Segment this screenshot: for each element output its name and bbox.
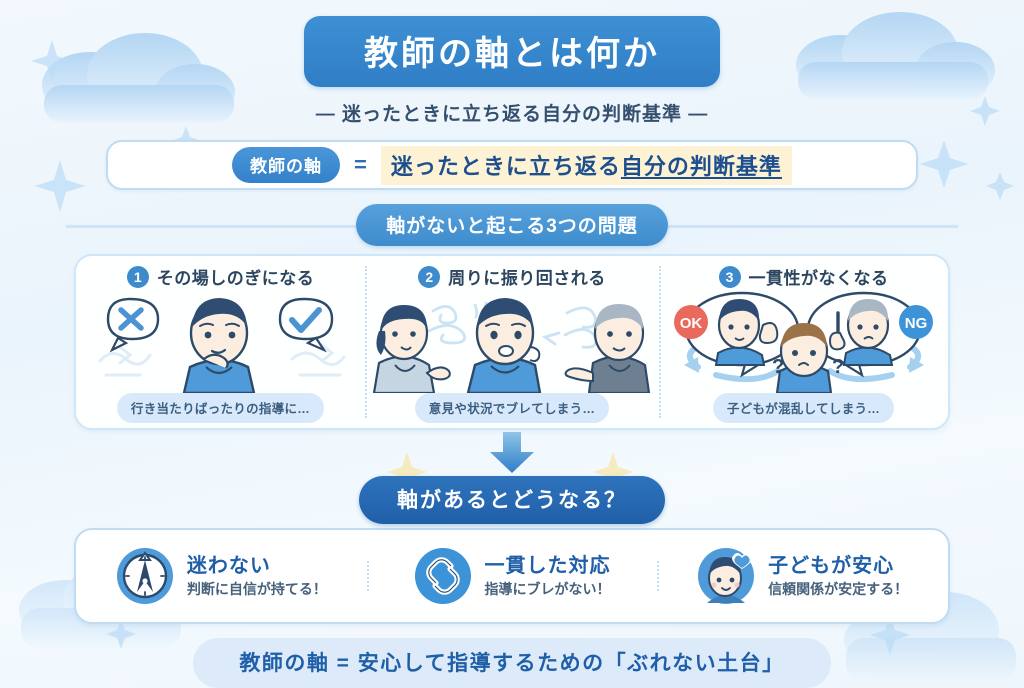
ok-badge-label: OK — [679, 315, 702, 332]
ng-badge-label: NG — [904, 315, 927, 332]
question-mark-right: ? — [832, 356, 844, 378]
definition-value-underlined: 自分の判断基準 — [621, 154, 782, 179]
problem-3-title: 一貫性がなくなる — [749, 264, 889, 289]
problem-card-3: 3 一貫性がなくなる — [659, 256, 948, 428]
equals-sign: = — [354, 152, 367, 178]
page-title: 教師の軸とは何か — [304, 16, 720, 87]
older-man-figure — [566, 304, 649, 393]
worried-man-figure — [184, 298, 254, 393]
check-thought-bubble — [280, 299, 332, 350]
benefit-card-2: 一貫した対応 指導にブレがない！ — [367, 547, 658, 605]
problem-3-number: 3 — [719, 266, 741, 288]
benefit-2-title: 一貫した対応 — [485, 554, 611, 579]
definition-card: 教師の軸 = 迷ったときに立ち返る自分の判断基準 — [106, 140, 918, 190]
benefit-2-sub: 指導にブレがない！ — [485, 581, 611, 599]
problem-3-header: 3 一貫性がなくなる — [719, 264, 889, 289]
problem-2-title: 周りに振り回される — [448, 264, 606, 289]
definition-value-plain: 迷ったときに立ち返る — [391, 154, 621, 179]
confused-man-icon — [86, 289, 356, 393]
benefit-1-title: 迷わない — [187, 554, 327, 579]
problem-1-number: 1 — [127, 266, 149, 288]
benefit-2-text: 一貫した対応 指導にブレがない！ — [485, 554, 611, 599]
footer-block: 教師の軸 = 安心して指導するための「ぶれない土台」 — [40, 638, 984, 688]
problem-1-caption: 行き当たりばったりの指導に… — [117, 393, 324, 423]
x-thought-bubble — [108, 299, 158, 350]
problem-1-header: 1 その場しのぎになる — [127, 264, 315, 289]
problem-2-illustration — [371, 289, 653, 393]
benefit-3-title: 子どもが安心 — [768, 554, 908, 579]
benefit-1-text: 迷わない 判断に自信が持てる！ — [187, 554, 327, 599]
problem-card-1: 1 その場しのぎになる — [76, 256, 365, 428]
chain-link-icon — [414, 547, 472, 605]
woman-figure — [374, 305, 450, 393]
benefit-card-3: 子どもが安心 信頼関係が安定する！ — [657, 547, 948, 605]
benefits-section-header: 軸があるとどうなる？ — [40, 476, 984, 524]
benefits-heading: 軸があるとどうなる？ — [359, 476, 665, 524]
page-subtitle: — 迷ったときに立ち返る自分の判断基準 — — [40, 99, 984, 126]
problem-card-2: 2 周りに振り回される — [365, 256, 659, 428]
title-block: 教師の軸とは何か — 迷ったときに立ち返る自分の判断基準 — — [40, 0, 984, 126]
infographic-root: 教師の軸とは何か — 迷ったときに立ち返る自分の判断基準 — 教師の軸 = 迷っ… — [0, 0, 1024, 683]
transition-arrow-wrap — [40, 430, 984, 476]
problem-2-caption: 意見や状況でブレてしまう… — [415, 393, 609, 423]
benefit-3-text: 子どもが安心 信頼関係が安定する！ — [768, 554, 908, 599]
ok-ng-conflict-icon: OK — [668, 289, 940, 393]
footer-summary: 教師の軸 = 安心して指導するための「ぶれない土台」 — [193, 638, 830, 688]
problems-section-header: 軸がないと起こる3つの問題 — [40, 204, 984, 246]
benefit-3-sub: 信頼関係が安定する！ — [768, 581, 908, 599]
child-face-heart-icon — [697, 547, 755, 605]
definition-term-chip: 教師の軸 — [232, 147, 340, 183]
problem-1-illustration — [82, 289, 359, 393]
stressed-teacher-figure — [468, 298, 540, 393]
problems-heading: 軸がないと起こる3つの問題 — [356, 204, 668, 246]
problem-3-caption: 子どもが混乱してしまう… — [713, 393, 894, 423]
question-mark-left: ? — [772, 356, 784, 378]
benefit-1-sub: 判断に自信が持てる！ — [187, 581, 327, 599]
benefits-panel: 迷わない 判断に自信が持てる！ 一貫した対応 指導にブレがない！ — [74, 528, 950, 624]
problems-panel: 1 その場しのぎになる — [74, 254, 950, 430]
problem-2-header: 2 周りに振り回される — [418, 264, 606, 289]
definition-value: 迷ったときに立ち返る自分の判断基準 — [381, 146, 792, 185]
problem-2-number: 2 — [418, 266, 440, 288]
down-arrow-icon — [485, 432, 539, 474]
people-pressuring-icon — [371, 289, 653, 393]
problem-1-title: その場しのぎになる — [157, 264, 315, 289]
problem-3-illustration: OK — [665, 289, 942, 393]
benefit-card-1: 迷わない 判断に自信が持てる！ — [76, 547, 367, 605]
compass-icon — [116, 547, 174, 605]
